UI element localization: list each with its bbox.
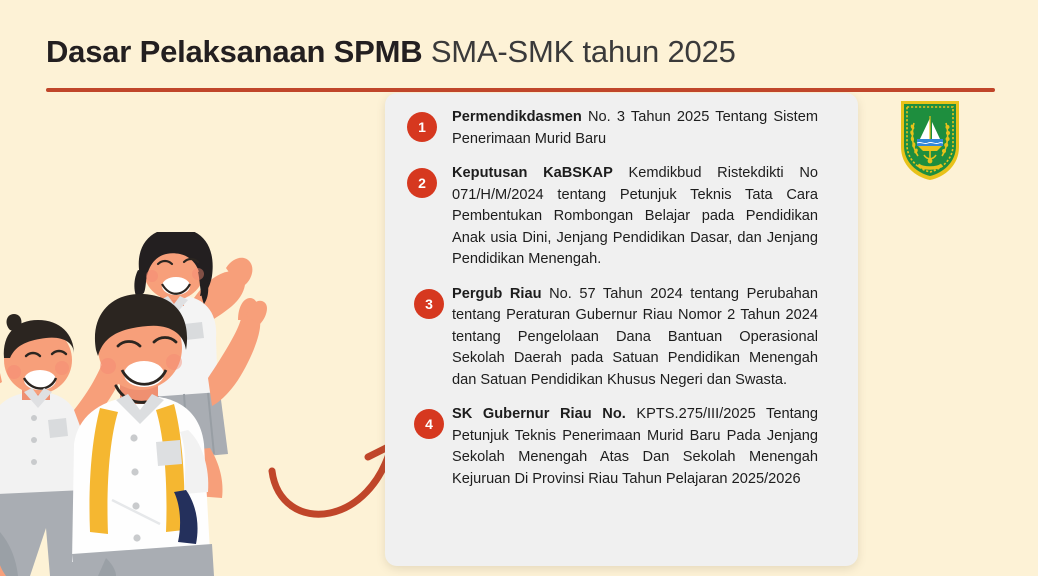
slide-title-text: Dasar Pelaksanaan SPMB SMA-SMK tahun 202…: [46, 32, 946, 72]
list-item-bold-label: Pergub Riau: [452, 286, 541, 302]
list-item: 1 Permendikdasmen No. 3 Tahun 2025 Tenta…: [407, 107, 818, 150]
list-item-number-badge: 3: [414, 289, 444, 319]
riau-province-coat-of-arms-icon: [899, 99, 961, 182]
list-item-bold-label: SK Gubernur Riau No.: [452, 406, 626, 422]
page-title: Dasar Pelaksanaan SPMB SMA-SMK tahun 202…: [46, 32, 946, 72]
list-item: 2 Keputusan KaBSKAP Kemdikbud Ristekdikt…: [407, 163, 818, 271]
list-item-text: Pergub Riau No. 57 Tahun 2024 tentang Pe…: [452, 284, 818, 392]
list-item-text: Keputusan KaBSKAP Kemdikbud Ristekdikti …: [452, 163, 818, 271]
list-item-number-badge: 4: [414, 409, 444, 439]
list-item: 3 Pergub Riau No. 57 Tahun 2024 tentang …: [407, 284, 818, 392]
list-item: 4 SK Gubernur Riau No. KPTS.275/III/2025…: [407, 404, 818, 490]
cheering-students-illustration: [0, 232, 288, 576]
list-item-bold-label: Permendikdasmen: [452, 109, 582, 125]
title-light-part: SMA-SMK tahun 2025: [422, 34, 735, 69]
title-divider: [46, 88, 995, 92]
list-item-number-badge: 1: [407, 112, 437, 142]
title-bold-part: Dasar Pelaksanaan SPMB: [46, 34, 422, 69]
list-item-number-badge: 2: [407, 168, 437, 198]
slide-root: Dasar Pelaksanaan SPMB SMA-SMK tahun 202…: [0, 0, 1038, 576]
regulation-list-card: 1 Permendikdasmen No. 3 Tahun 2025 Tenta…: [385, 93, 858, 566]
list-item-text: Permendikdasmen No. 3 Tahun 2025 Tentang…: [452, 107, 818, 150]
list-item-text: SK Gubernur Riau No. KPTS.275/III/2025 T…: [452, 404, 818, 490]
list-item-bold-label: Keputusan KaBSKAP: [452, 165, 613, 181]
